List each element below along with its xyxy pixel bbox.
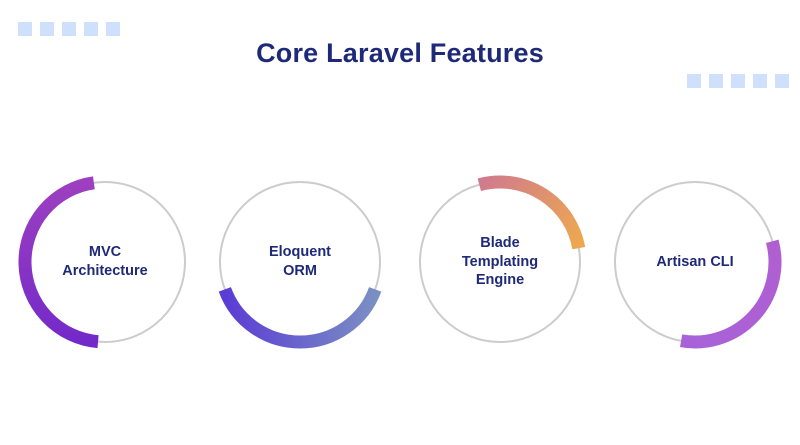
decorative-square [775,74,789,88]
decorative-square [731,74,745,88]
feature-circle-eloquent-orm[interactable]: Eloquent ORM [212,174,388,350]
decorative-square [753,74,767,88]
progress-ring-icon [17,174,193,350]
decorative-square [709,74,723,88]
decorative-square [687,74,701,88]
ring-progress-arc [681,241,775,342]
feature-circle-mvc-architecture[interactable]: MVC Architecture [17,174,193,350]
decorative-squares-top-left [18,22,120,36]
decorative-square [106,22,120,36]
decorative-square [84,22,98,36]
progress-ring-icon [212,174,388,350]
ring-progress-arc [225,289,375,342]
decorative-square [40,22,54,36]
feature-circle-artisan-cli[interactable]: Artisan CLI [607,174,783,350]
feature-circle-blade-templating-engine[interactable]: Blade Templating Engine [412,174,588,350]
ring-progress-arc [479,182,578,248]
decorative-squares-top-right [687,74,789,88]
ring-progress-arc [25,183,98,342]
decorative-square [62,22,76,36]
page-title: Core Laravel Features [0,38,800,69]
progress-ring-icon [607,174,783,350]
infographic-canvas: Core Laravel Features MVC Architecture E… [0,0,800,445]
feature-circles-row: MVC Architecture Eloquent ORM Blade Temp… [0,174,800,354]
progress-ring-icon [412,174,588,350]
decorative-square [18,22,32,36]
